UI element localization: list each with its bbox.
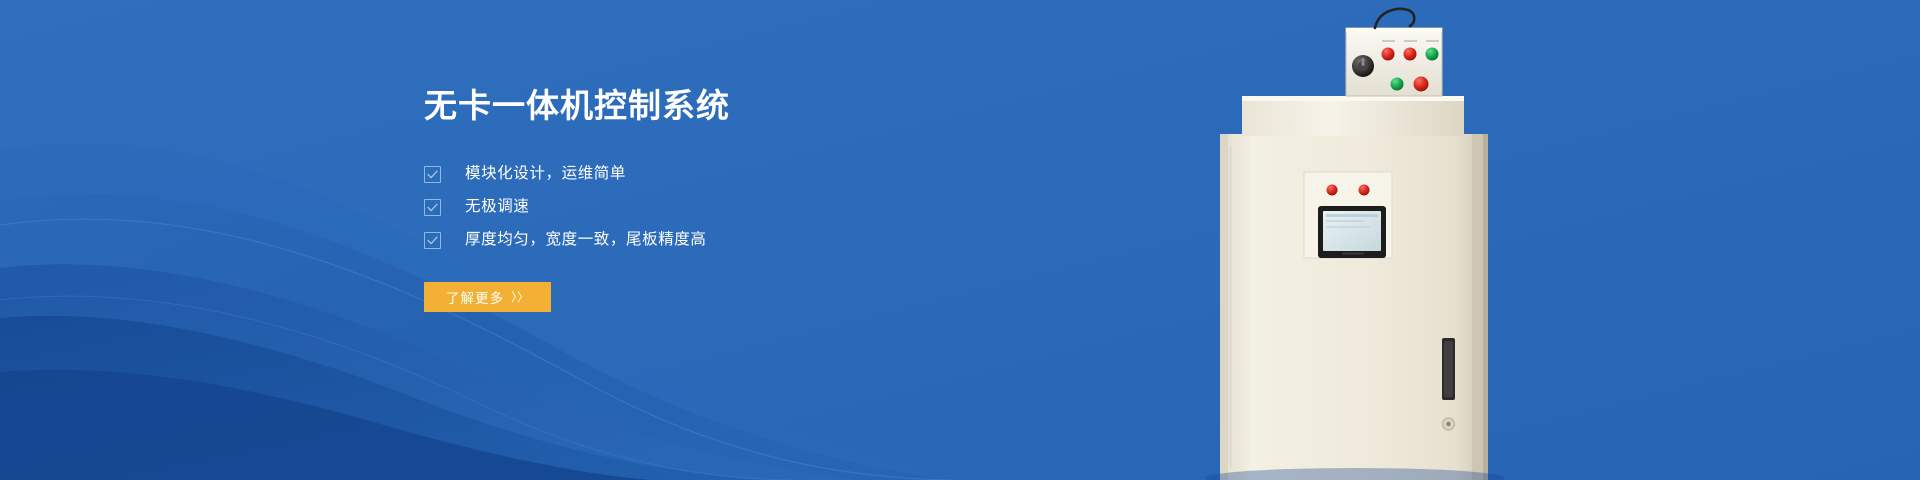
industrial-control-cabinet-photo — [1120, 0, 1920, 480]
hero-banner: 无卡一体机控制系统 模块化设计，运维简单 无极调速 — [0, 0, 1920, 480]
learn-more-label: 了解更多 — [446, 287, 504, 307]
page-title: 无卡一体机控制系统 — [424, 86, 894, 126]
feature-text: 厚度均匀，宽度一致，尾板精度高 — [465, 232, 707, 248]
list-item: 无极调速 — [424, 191, 894, 224]
list-item: 模块化设计，运维简单 — [424, 158, 894, 191]
check-square-icon — [424, 199, 441, 216]
chevron-right-icon: 〉〉 — [511, 288, 529, 305]
feature-list: 模块化设计，运维简单 无极调速 厚度均匀，宽度一致，尾板精度高 — [424, 158, 894, 257]
list-item: 厚度均匀，宽度一致，尾板精度高 — [424, 224, 894, 257]
feature-text: 无极调速 — [465, 199, 529, 215]
check-square-icon — [424, 166, 441, 183]
banner-content: 无卡一体机控制系统 模块化设计，运维简单 无极调速 — [424, 86, 894, 312]
feature-text: 模块化设计，运维简单 — [465, 166, 626, 182]
learn-more-button[interactable]: 了解更多 〉〉 — [424, 282, 551, 312]
check-square-icon — [424, 232, 441, 249]
